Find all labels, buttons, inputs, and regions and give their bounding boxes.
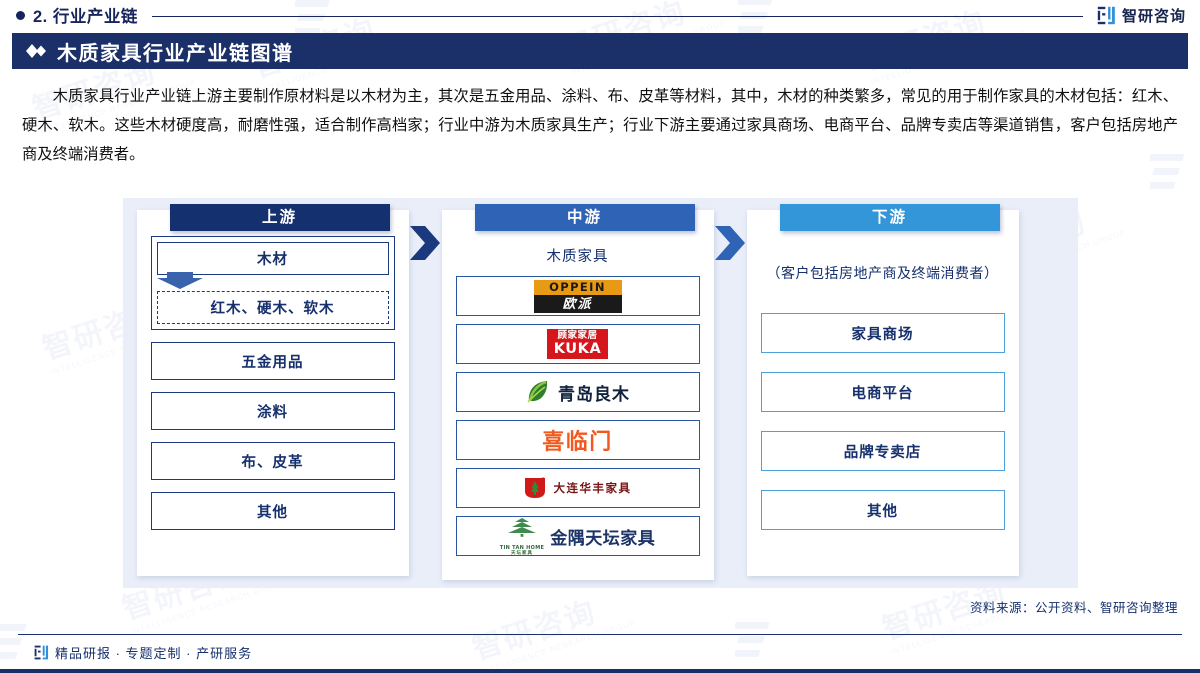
node-wood[interactable]: 木材 (157, 242, 389, 275)
brand-name: 智研咨询 (1122, 5, 1186, 26)
footer-bar (0, 669, 1200, 673)
company-oppein[interactable]: OPPEIN 欧派 (456, 276, 700, 316)
zhiyan-logo-icon (1097, 6, 1116, 25)
company-jinyu-tiantan[interactable]: TIN TAN HOME 天坛家具 金隅天坛家具 (456, 516, 700, 556)
title-bar: 木质家具行业产业链图谱 (12, 33, 1188, 69)
page-header: 2. 行业产业链 智研咨询 (0, 0, 1200, 30)
chevron-right-icon (410, 226, 440, 260)
watermark-logo-icon (735, 618, 795, 672)
diamond-icon (26, 44, 46, 58)
dalian-huafeng-logo-icon: 大连华丰家具 (524, 477, 632, 499)
industry-chain-diagram: 上游 木材 红木、硬木、软木 五金用品 涂料 布、皮革 其他 中游 木质家具 O… (123, 198, 1078, 588)
company-xilinmen[interactable]: 喜临门 (456, 420, 700, 460)
page-title: 木质家具行业产业链图谱 (57, 37, 294, 66)
node-fabric-leather[interactable]: 布、皮革 (151, 442, 395, 480)
upstream-column: 上游 木材 红木、硬木、软木 五金用品 涂料 布、皮革 其他 (137, 210, 409, 576)
node-brand-store[interactable]: 品牌专卖店 (761, 431, 1005, 471)
company-dalian-huafeng[interactable]: 大连华丰家具 (456, 468, 700, 508)
xilinmen-logo-icon: 喜临门 (542, 424, 613, 456)
node-other-downstream[interactable]: 其他 (761, 490, 1005, 530)
node-coating[interactable]: 涂料 (151, 392, 395, 430)
down-arrow-icon (157, 272, 389, 294)
midstream-column: 中游 木质家具 OPPEIN 欧派 顾家家居 KUKA (442, 210, 714, 580)
upstream-header: 上游 (170, 204, 390, 231)
footer-text: 精品研报 · 专题定制 · 产研服务 (55, 643, 252, 662)
header-divider (152, 16, 1083, 17)
chevron-right-icon (715, 226, 745, 260)
downstream-header: 下游 (780, 204, 1000, 231)
wood-group: 木材 红木、硬木、软木 (151, 236, 395, 330)
jinyu-tiantan-logo-icon: TIN TAN HOME 天坛家具 金隅天坛家具 (500, 517, 655, 555)
node-other-upstream[interactable]: 其他 (151, 492, 395, 530)
downstream-caption: （客户包括房地产商及终端消费者） (761, 263, 1005, 283)
node-wood-types[interactable]: 红木、硬木、软木 (157, 291, 389, 324)
footer-divider (18, 634, 1182, 635)
body-paragraph: 木质家具行业产业链上游主要制作原材料是以木材为主，其次是五金用品、涂料、布、皮革… (22, 82, 1178, 169)
node-ecommerce-platform[interactable]: 电商平台 (761, 372, 1005, 412)
chevron-upstream-to-midstream (409, 210, 442, 260)
leaf-icon (525, 379, 551, 405)
section-label: 2. 行业产业链 (33, 3, 138, 27)
downstream-column: 下游 （客户包括房地产商及终端消费者） 家具商场 电商平台 品牌专卖店 其他 (747, 210, 1019, 576)
zhiyan-logo-icon (34, 645, 49, 660)
brand: 智研咨询 (1097, 5, 1186, 26)
node-furniture-mall[interactable]: 家具商场 (761, 313, 1005, 353)
footer: 精品研报 · 专题定制 · 产研服务 (34, 643, 252, 662)
node-hardware[interactable]: 五金用品 (151, 342, 395, 380)
huafeng-mark-icon (524, 477, 546, 499)
oppein-logo-icon: OPPEIN 欧派 (534, 280, 622, 313)
midstream-caption: 木质家具 (456, 245, 700, 266)
source-note: 资料来源：公开资料、智研咨询整理 (0, 597, 1178, 616)
company-kuka[interactable]: 顾家家居 KUKA (456, 324, 700, 364)
chevron-midstream-to-downstream (714, 210, 747, 260)
qingdao-liangmu-logo-icon: 青岛良木 (525, 379, 630, 405)
midstream-header: 中游 (475, 204, 695, 231)
bullet-dot-icon (16, 11, 25, 20)
company-qingdao-liangmu[interactable]: 青岛良木 (456, 372, 700, 412)
pagoda-icon: TIN TAN HOME 天坛家具 (500, 517, 544, 555)
watermark-text: 智研咨询INTELLIGENCE RESEARCH GROUP (466, 576, 637, 673)
kuka-logo-icon: 顾家家居 KUKA (547, 329, 609, 359)
